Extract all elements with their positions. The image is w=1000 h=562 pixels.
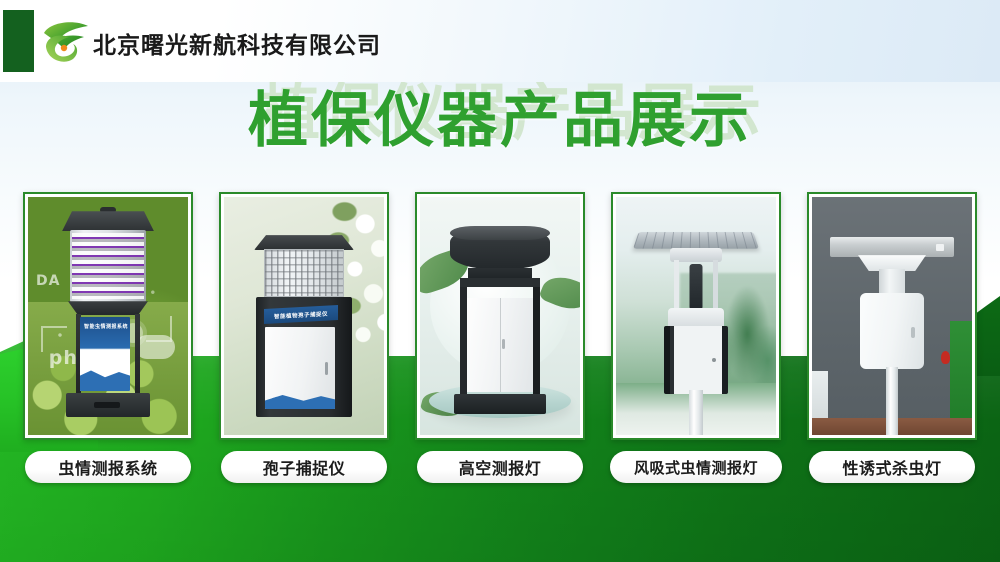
- product-photo-frame-1: DA ing ph 智能虫情测报系统: [23, 192, 193, 440]
- device5-pole: [886, 367, 898, 435]
- product-photo-4: [616, 197, 776, 435]
- product-card-1[interactable]: DA ing ph 智能虫情测报系统: [23, 192, 193, 492]
- page-title-group: 植保仪器产品展示 植保仪器产品展示: [0, 72, 1000, 159]
- product-card-2[interactable]: 智能植物孢子捕捉仪 孢子捕捉仪: [219, 192, 389, 492]
- scene-high-altitude-lamp: [420, 197, 580, 435]
- scene5-left-edge: [812, 371, 828, 419]
- device1-roof: [62, 211, 154, 231]
- product-label-1[interactable]: 虫情测报系统: [25, 451, 191, 483]
- device2-cabinet: 智能植物孢子捕捉仪: [256, 297, 352, 417]
- device1-panel: 智能虫情测报系统: [80, 317, 130, 391]
- hud-label-da: DA: [36, 273, 60, 289]
- scene-wind-suction-lamp: [616, 197, 776, 435]
- device2-perforated-head: [264, 249, 344, 297]
- company-name: 北京曙光新航科技有限公司: [93, 26, 381, 60]
- product-photo-1: DA ing ph 智能虫情测报系统: [28, 197, 188, 435]
- product-photo-3: [420, 197, 580, 435]
- device1-panel-wave: [80, 365, 130, 391]
- product-photo-2: 智能植物孢子捕捉仪: [224, 197, 384, 435]
- leaf-swirl-logo-icon: [40, 17, 92, 65]
- device-insect-monitor: 智能虫情测报系统: [62, 211, 154, 416]
- product-photo-5: [812, 197, 972, 435]
- slide-root: 北京曙光新航科技有限公司 植保仪器产品展示 植保仪器产品展示 DA: [0, 0, 1000, 562]
- device-spore-trap: 智能植物孢子捕捉仪: [252, 235, 356, 411]
- device4-lamp-tube: [690, 264, 703, 310]
- scene-insect-monitor: DA ing ph 智能虫情测报系统: [28, 197, 188, 435]
- device3-base: [454, 394, 546, 414]
- page-header: 北京曙光新航科技有限公司: [0, 0, 1000, 82]
- product-photo-frame-3: [415, 192, 585, 440]
- product-photo-frame-2: 智能植物孢子捕捉仪: [219, 192, 389, 440]
- device3-doors: [467, 298, 533, 392]
- device1-panel-text: 智能虫情测报系统: [84, 323, 128, 330]
- product-card-5[interactable]: 性诱式杀虫灯: [807, 192, 977, 492]
- device1-funnel: [68, 301, 148, 315]
- device2-label-text: 智能植物孢子捕捉仪: [264, 305, 338, 324]
- device4-solar-panel: [633, 232, 759, 249]
- product-photo-frame-5: [807, 192, 977, 440]
- device-wind-suction-lamp: [636, 230, 756, 425]
- device4-pole: [689, 390, 703, 435]
- product-label-3[interactable]: 高空测报灯: [417, 451, 583, 483]
- scene-spore-trap: 智能植物孢子捕捉仪: [224, 197, 384, 435]
- device-sex-lure-lamp: [830, 235, 954, 425]
- page-title: 植保仪器产品展示: [0, 72, 1000, 159]
- product-card-4[interactable]: 风吸式虫情测报灯: [611, 192, 781, 492]
- device3-drum-top: [450, 226, 550, 270]
- product-photo-frame-4: [611, 192, 781, 440]
- product-label-5[interactable]: 性诱式杀虫灯: [809, 451, 975, 483]
- product-card-3[interactable]: 高空测报灯: [415, 192, 585, 492]
- device-high-altitude-lamp: [446, 226, 554, 412]
- device5-solar-panel: [830, 237, 954, 257]
- device2-roof: [254, 235, 354, 250]
- device1-louvers: [70, 230, 146, 302]
- product-label-4[interactable]: 风吸式虫情测报灯: [610, 451, 782, 483]
- device2-door-wave: [265, 391, 335, 409]
- header-accent-block: [3, 10, 34, 72]
- device1-collection-tray: [66, 393, 150, 417]
- product-card-row: DA ing ph 智能虫情测报系统: [0, 192, 1000, 492]
- device4-control-box: [664, 326, 728, 394]
- scene-sex-lure-lamp: [812, 197, 972, 435]
- device5-housing: [860, 293, 924, 369]
- product-label-2[interactable]: 孢子捕捉仪: [221, 451, 387, 483]
- device2-door: [265, 327, 335, 409]
